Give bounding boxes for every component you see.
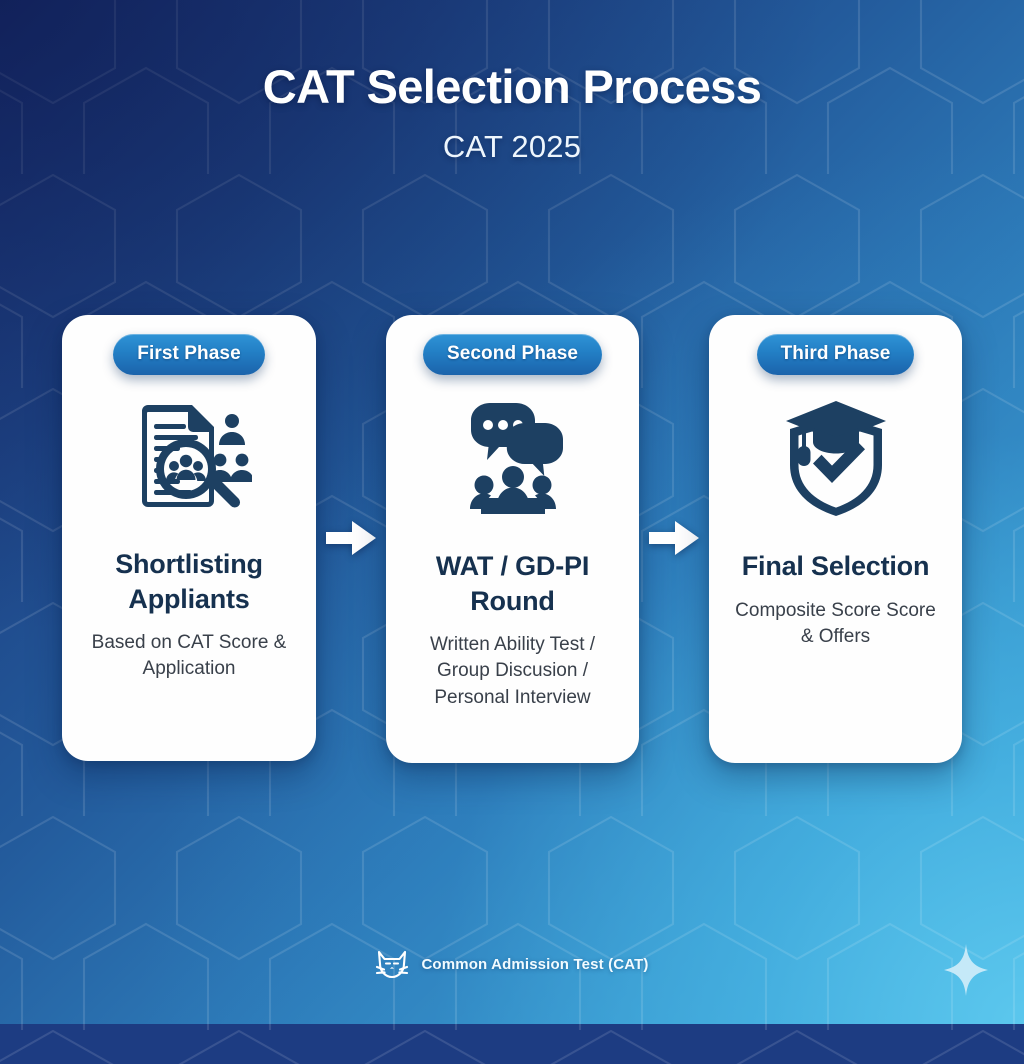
phase-badge-first: First Phase xyxy=(113,334,265,375)
footer-label: Common Admission Test (CAT) xyxy=(421,956,648,973)
footer: Common Admission Test (CAT) xyxy=(0,948,1024,980)
phase-badge-second: Second Phase xyxy=(423,334,602,375)
phase-description-second: Written Ability Test / Group Discusion /… xyxy=(400,632,625,711)
arrow-right-icon xyxy=(649,520,699,556)
cat-face-icon xyxy=(375,948,409,980)
shield-checkmark-graduation-cap-icon xyxy=(723,383,948,533)
phase-description-third: Composite Score Score & Offers xyxy=(723,598,948,650)
phase-card-first[interactable]: First Phase xyxy=(62,315,316,761)
phase-heading-second: WAT / GD-PI Round xyxy=(400,549,625,618)
document-magnifier-people-icon xyxy=(76,383,302,533)
phase-description-first: Based on CAT Score & Application xyxy=(76,630,302,682)
phase-card-second[interactable]: Second Phase xyxy=(386,315,639,763)
arrow-connector-2 xyxy=(639,315,709,761)
arrow-right-icon xyxy=(326,520,376,556)
phase-heading-first: Shortlisting Appliants xyxy=(76,547,302,616)
arrow-connector-1 xyxy=(316,315,386,761)
speech-bubbles-panel-icon xyxy=(400,383,625,533)
process-flow: First Phase xyxy=(62,315,962,765)
page-title: CAT Selection Process xyxy=(0,62,1024,111)
phase-card-third[interactable]: Third Phase Final Selection Composite Sc xyxy=(709,315,962,763)
page-subtitle: CAT 2025 xyxy=(0,129,1024,165)
sparkle-four-point-icon xyxy=(944,944,988,996)
phase-badge-third: Third Phase xyxy=(757,334,915,375)
phase-heading-third: Final Selection xyxy=(738,549,934,584)
header: CAT Selection Process CAT 2025 xyxy=(0,62,1024,165)
